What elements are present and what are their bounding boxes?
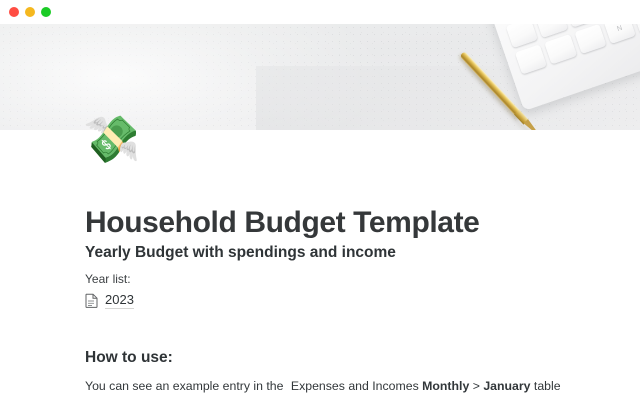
page-title: Household Budget Template xyxy=(85,206,479,240)
body-text-part1: You can see an example entry in the xyxy=(85,379,283,393)
window-controls xyxy=(9,7,51,17)
keyboard-key: N xyxy=(604,24,636,44)
app-window: Y U I O H J K L N M xyxy=(0,0,640,400)
money-with-wings-icon[interactable]: 💸 xyxy=(83,110,141,168)
how-to-use-body: You can see an example entry in the Expe… xyxy=(85,378,561,394)
subheading: Yearly Budget with spendings and income xyxy=(85,244,396,262)
year-2023-link[interactable]: 2023 xyxy=(105,292,134,309)
document-icon xyxy=(85,293,98,308)
how-to-use-heading: How to use: xyxy=(85,349,173,367)
close-button[interactable] xyxy=(9,7,19,17)
body-text-monthly: Monthly xyxy=(422,379,469,393)
keyboard-key xyxy=(544,34,576,64)
body-text-january: January xyxy=(483,379,530,393)
page-content: 💸 Household Budget Template Yearly Budge… xyxy=(0,130,640,400)
body-text-part2: Expenses and Incomes xyxy=(291,379,419,393)
keyboard-key xyxy=(574,24,606,54)
body-text-separator: > xyxy=(473,379,480,393)
year-list-label: Year list: xyxy=(85,272,131,286)
minimize-button[interactable] xyxy=(25,7,35,17)
body-text-part3: table xyxy=(534,379,561,393)
year-page-link-row[interactable]: 2023 xyxy=(85,291,134,309)
maximize-button[interactable] xyxy=(41,7,51,17)
title-bar xyxy=(0,0,640,24)
